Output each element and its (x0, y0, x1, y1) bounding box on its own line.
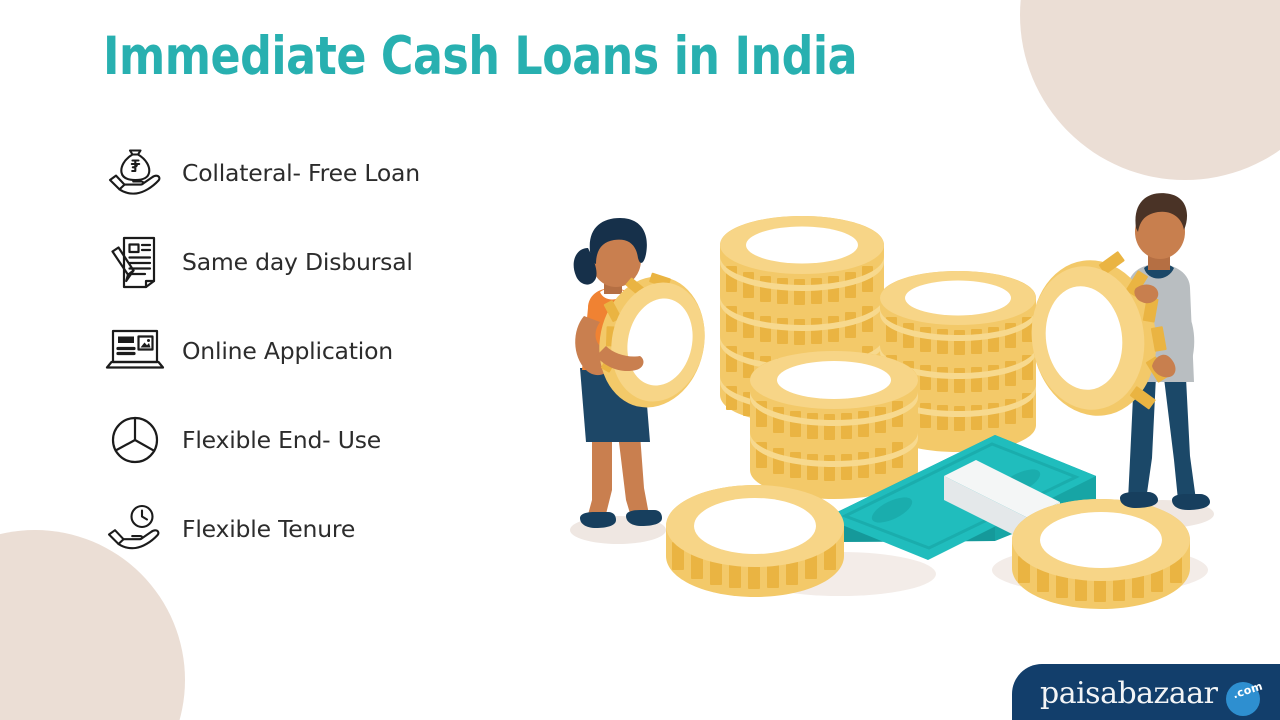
feature-item-online-application: Online Application (98, 306, 528, 395)
feature-item-flexible-tenure: Flexible Tenure (98, 484, 528, 573)
loose-coin-right (1012, 499, 1190, 609)
woman-holding-coin (574, 218, 717, 528)
feature-label: Flexible Tenure (182, 515, 355, 543)
circle-blob-top-right (1020, 0, 1280, 180)
coin-stack-front (750, 351, 918, 499)
feature-label: Same day Disbursal (182, 248, 413, 276)
feature-item-collateral-free-loan: Collateral- Free Loan (98, 128, 528, 217)
laptop-icon (98, 323, 172, 379)
feature-item-same-day-disbursal: Same day Disbursal (98, 217, 528, 306)
page-title: Immediate Cash Loans in India (103, 28, 857, 85)
money-bag-on-hand-icon (98, 145, 172, 201)
loose-coin-left (666, 485, 844, 597)
feature-item-flexible-end-use: Flexible End- Use (98, 395, 528, 484)
infographic-canvas: Immediate Cash Loans in India Collateral… (0, 0, 1280, 720)
people-with-gold-coins-and-cash-illustration (540, 170, 1280, 640)
feature-label: Online Application (182, 337, 393, 365)
feature-list: Collateral- Free Loan Same day Disburs (98, 128, 528, 573)
feature-label: Collateral- Free Loan (182, 159, 420, 187)
document-with-pen-icon (98, 234, 172, 290)
feature-label: Flexible End- Use (182, 426, 381, 454)
hand-with-clock-icon (98, 501, 172, 557)
logo-wordmark: paisabazaar (1040, 676, 1217, 711)
pie-chart-icon (98, 412, 172, 468)
paisabazaar-logo[interactable]: paisabazaar .com (1012, 664, 1280, 720)
